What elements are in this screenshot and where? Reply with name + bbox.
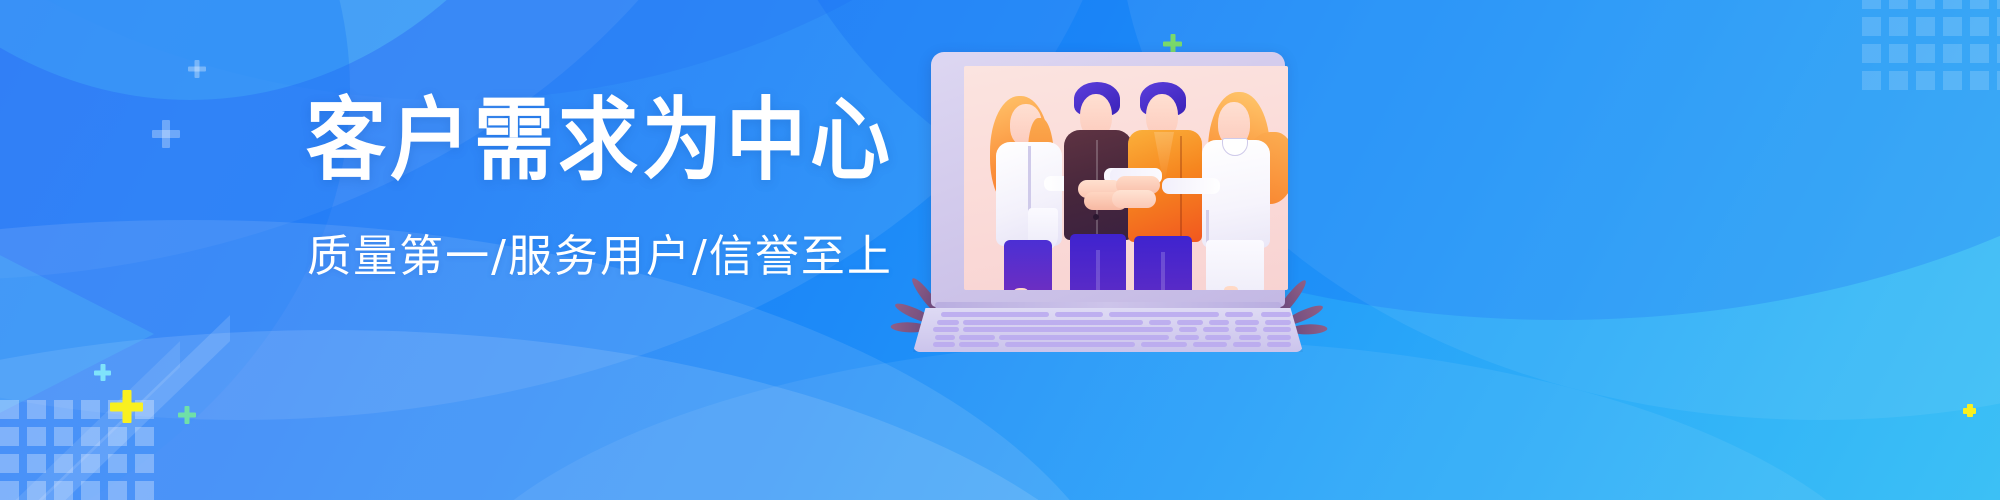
grid-square <box>1943 71 1962 90</box>
grid-square <box>1970 71 1989 90</box>
keyboard-key[interactable] <box>959 342 999 347</box>
grid-square <box>1889 17 1908 36</box>
keyboard-key[interactable] <box>959 335 995 340</box>
banner-copy: 客户需求为中心 质量第一/服务用户/信誉至上 <box>250 96 950 284</box>
grid-square <box>1943 44 1962 63</box>
laptop-illustration <box>913 52 1303 352</box>
keyboard-key[interactable] <box>1233 342 1261 347</box>
plus-yellow-large-bottom-icon <box>110 390 143 423</box>
grid-square <box>1889 71 1908 90</box>
grid-square <box>108 454 127 473</box>
grid-square <box>135 454 154 473</box>
grid-square <box>1916 44 1935 63</box>
grid-square <box>54 427 73 446</box>
grid-square <box>1862 71 1881 90</box>
keyboard-key[interactable] <box>941 312 1049 317</box>
keyboard-key[interactable] <box>963 320 1143 325</box>
grid-square <box>1916 71 1935 90</box>
skirt <box>1206 240 1264 290</box>
keyboard-key[interactable] <box>933 342 955 347</box>
keyboard-key[interactable] <box>1235 320 1259 325</box>
grid-square <box>1889 44 1908 63</box>
grid-square <box>27 454 46 473</box>
grid-square <box>0 481 19 500</box>
keyboard-key[interactable] <box>1239 335 1261 340</box>
grid-square <box>27 427 46 446</box>
laptop-base <box>913 302 1303 352</box>
keyboard-key[interactable] <box>1265 320 1291 325</box>
keyboard-key[interactable] <box>963 327 1173 332</box>
grid-square <box>1916 0 1935 9</box>
grid-square <box>81 481 100 500</box>
keyboard-key[interactable] <box>1179 327 1197 332</box>
keyboard-key[interactable] <box>1225 312 1253 317</box>
wave-shape-cyan-topleft <box>0 0 640 100</box>
grid-square <box>135 427 154 446</box>
grid-square <box>1916 17 1935 36</box>
grid-square <box>81 427 100 446</box>
plus-green-small-top-icon <box>1163 34 1182 53</box>
plus-yellow-tiny-edge-icon <box>1963 404 1976 417</box>
wave-shape-bottom-right <box>420 340 1920 500</box>
keyboard-key[interactable] <box>935 335 955 340</box>
grid-square <box>0 427 19 446</box>
keyboard-key[interactable] <box>1205 335 1231 340</box>
keyboard-key[interactable] <box>1141 342 1187 347</box>
keyboard-key[interactable] <box>1261 312 1291 317</box>
grid-square <box>1943 17 1962 36</box>
keyboard-key[interactable] <box>1203 327 1229 332</box>
shirt-button <box>1093 214 1099 220</box>
keyboard-key[interactable] <box>1209 320 1229 325</box>
grid-square <box>54 400 73 419</box>
laptop-lid <box>931 52 1285 307</box>
keyboard-deck <box>913 308 1303 352</box>
keyboard-key[interactable] <box>1175 335 1199 340</box>
laptop-screen <box>964 66 1288 290</box>
keyboard-key[interactable] <box>1005 342 1135 347</box>
grid-square <box>108 481 127 500</box>
plus-white-faint-upper-icon <box>188 60 206 78</box>
grid-square <box>1970 17 1989 36</box>
grid-square <box>1970 0 1989 9</box>
keyboard-key[interactable] <box>1149 320 1171 325</box>
torso-blouse <box>1202 140 1270 248</box>
grid-square <box>1862 0 1881 9</box>
keyboard-key[interactable] <box>1109 312 1219 317</box>
laptop-hinge <box>935 302 1281 309</box>
grid-square <box>81 454 100 473</box>
keyboard-key[interactable] <box>1263 327 1291 332</box>
arm <box>1162 178 1220 194</box>
grid-square <box>27 400 46 419</box>
grid-square <box>0 400 19 419</box>
legs <box>1004 240 1052 290</box>
grid-square <box>108 427 127 446</box>
foot <box>1014 288 1028 290</box>
keyboard-key[interactable] <box>937 320 959 325</box>
keyboard-key[interactable] <box>1193 342 1227 347</box>
cuff-line <box>1206 210 1209 244</box>
wave-shape-bottom-2 <box>0 330 1180 500</box>
plus-cyan-faint-bottom-icon <box>94 364 111 381</box>
grid-square <box>54 481 73 500</box>
person-woman-right <box>1196 88 1288 290</box>
leg-split <box>1161 252 1165 290</box>
grid-square <box>1862 44 1881 63</box>
keyboard-key[interactable] <box>999 335 1169 340</box>
grid-square <box>1970 44 1989 63</box>
keyboard-key[interactable] <box>1235 327 1257 332</box>
plus-white-faint-mid-icon <box>152 120 180 148</box>
keyboard-key[interactable] <box>1177 320 1203 325</box>
joined-hands <box>1072 170 1168 214</box>
grid-top-right <box>1862 0 2000 98</box>
banner-headline: 客户需求为中心 <box>250 96 950 186</box>
keyboard-key[interactable] <box>1055 312 1103 317</box>
keyboard-key[interactable] <box>933 327 959 332</box>
grid-square <box>1889 0 1908 9</box>
hand <box>1112 190 1156 208</box>
grid-square <box>81 400 100 419</box>
leg-split <box>1096 250 1100 290</box>
grid-square <box>0 454 19 473</box>
banner-subtitle: 质量第一/服务用户/信誉至上 <box>250 220 950 284</box>
promo-banner: 客户需求为中心 质量第一/服务用户/信誉至上 <box>0 0 2000 500</box>
grid-square <box>1943 0 1962 9</box>
foot <box>1224 286 1238 290</box>
grid-square <box>135 481 154 500</box>
grid-square <box>1862 17 1881 36</box>
plus-cyan-small-bottom-icon <box>178 406 196 424</box>
keyboard-key[interactable] <box>1267 335 1291 340</box>
grid-square <box>54 454 73 473</box>
grid-square <box>27 481 46 500</box>
keyboard-key[interactable] <box>1267 342 1291 347</box>
